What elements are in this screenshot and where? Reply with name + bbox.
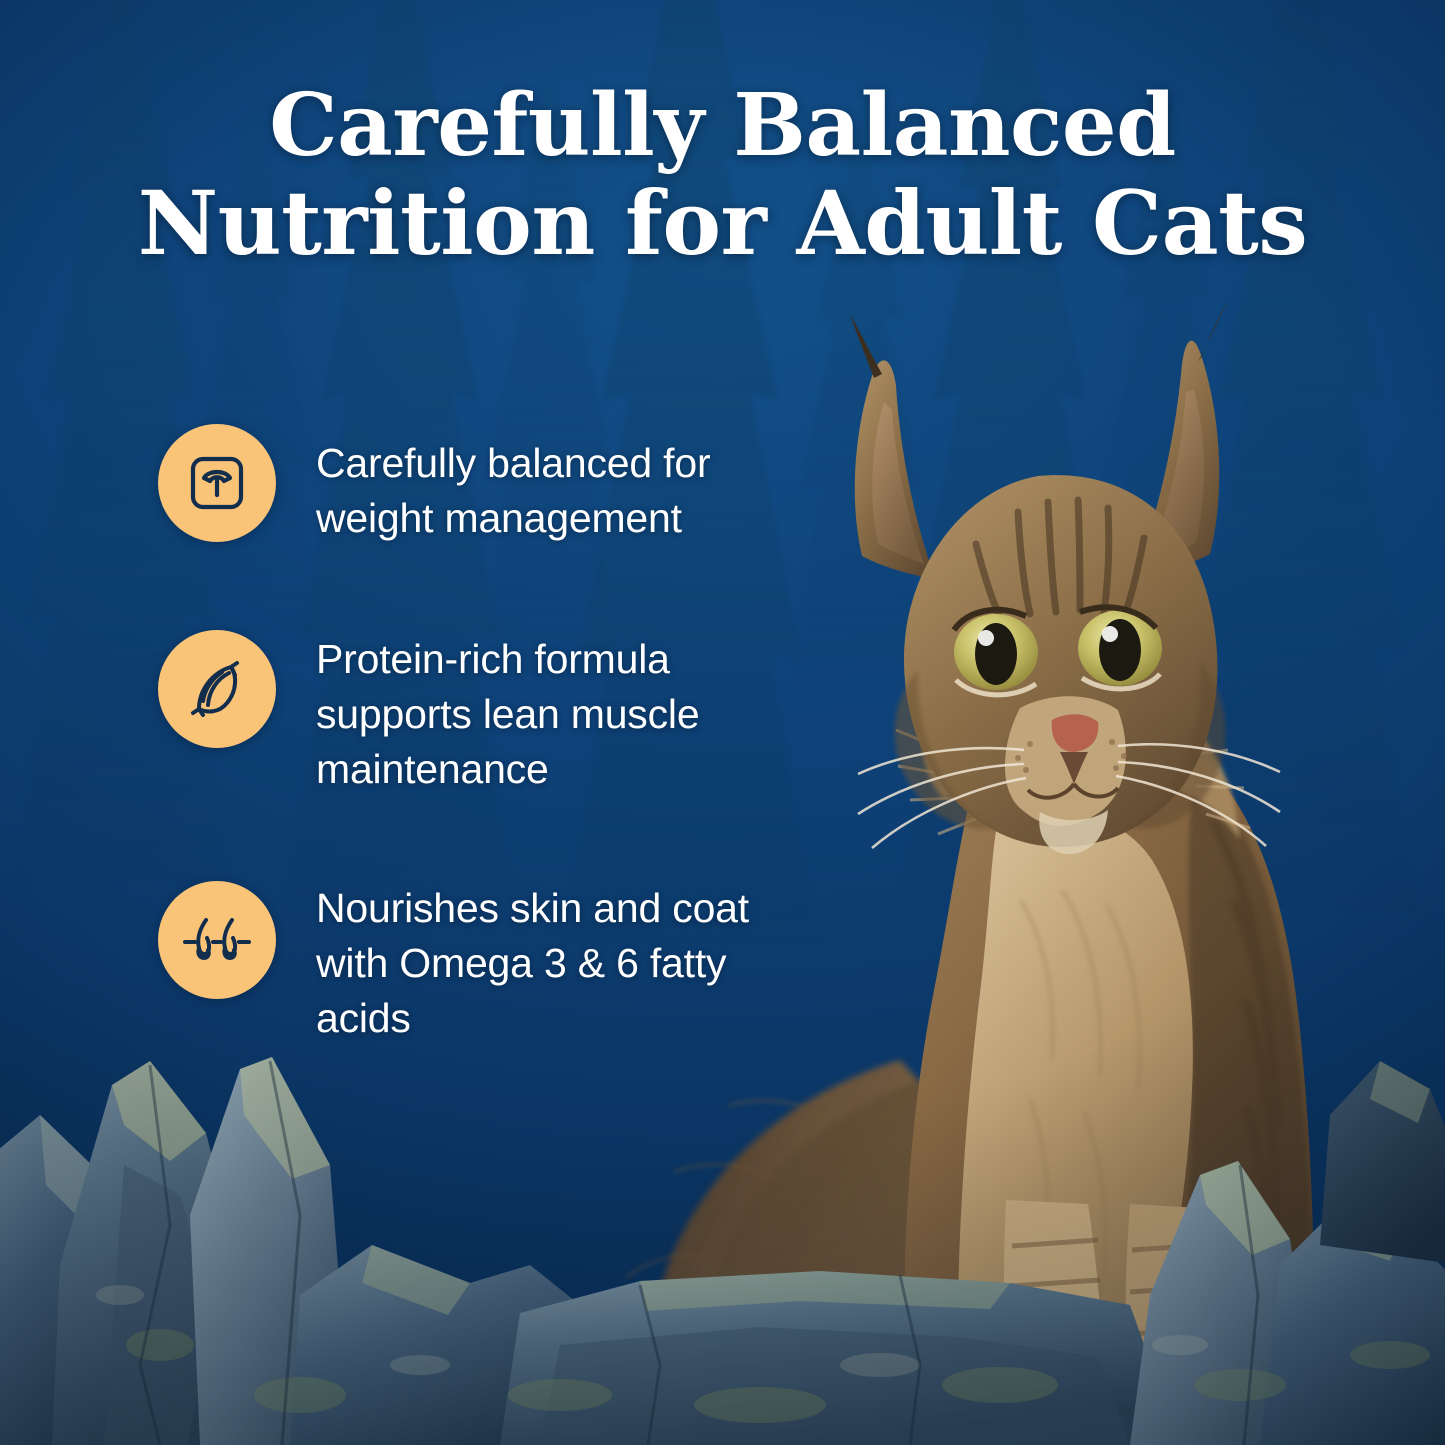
- benefit-text: Nourishes skin and coat with Omega 3 & 6…: [316, 881, 798, 1046]
- headline-line-2: Nutrition for Adult Cats: [60, 174, 1385, 273]
- benefit-text: Carefully balanced for weight management: [316, 424, 798, 546]
- benefits-list: Carefully balanced for weight management…: [158, 424, 798, 1046]
- benefit-item-lean-muscle: Protein-rich formula supports lean muscl…: [158, 630, 798, 797]
- benefit-item-weight-management: Carefully balanced for weight management: [158, 424, 798, 546]
- muscle-fiber-icon: [158, 630, 276, 748]
- page-title: Carefully Balanced Nutrition for Adult C…: [0, 78, 1445, 273]
- marketing-hero-image: Carefully Balanced Nutrition for Adult C…: [0, 0, 1445, 1445]
- benefit-item-skin-and-coat: Nourishes skin and coat with Omega 3 & 6…: [158, 881, 798, 1046]
- weight-scale-icon: [158, 424, 276, 542]
- headline-line-1: Carefully Balanced: [60, 78, 1385, 174]
- hair-follicle-icon: [158, 881, 276, 999]
- benefit-text: Protein-rich formula supports lean muscl…: [316, 630, 798, 797]
